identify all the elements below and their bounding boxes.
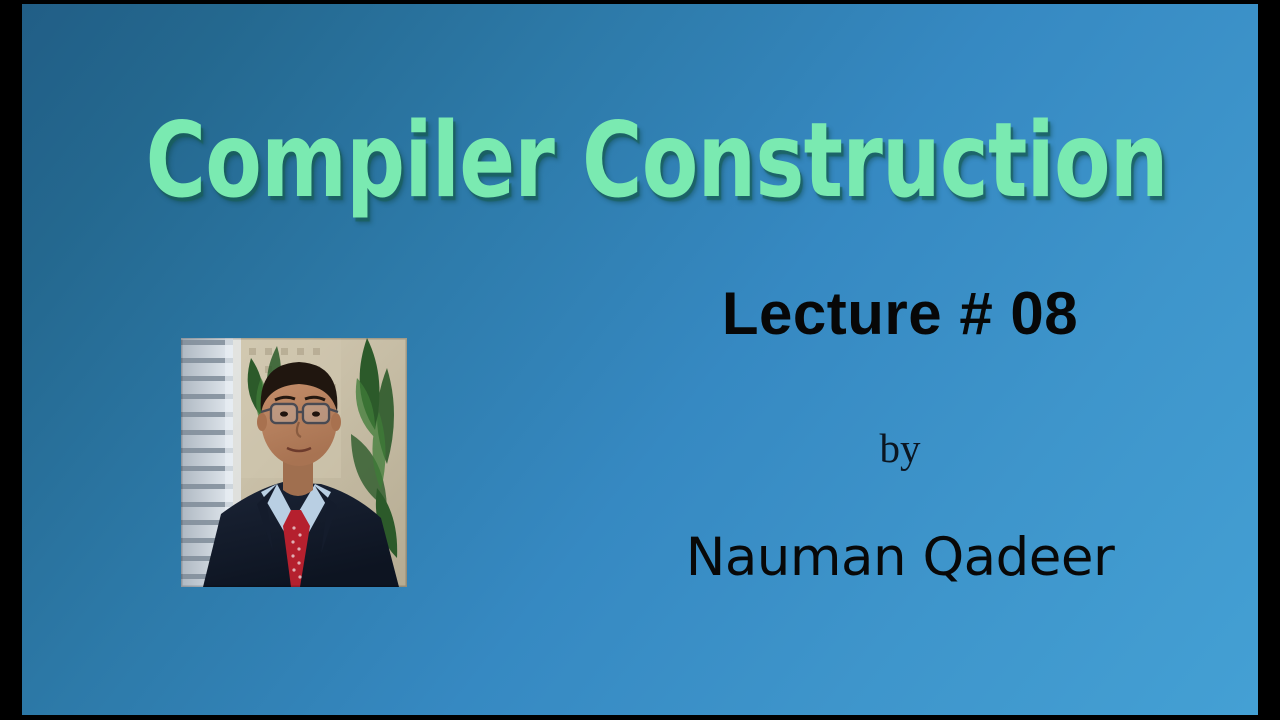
presenter-photo: [181, 338, 407, 587]
page-title: Compiler Construction: [146, 110, 1135, 213]
byline-label: by: [542, 428, 1258, 469]
presentation-slide: Compiler Construction: [22, 4, 1258, 715]
lecture-number-heading: Lecture # 08: [542, 284, 1258, 344]
pillarbox-bar-left: [0, 0, 22, 720]
author-name: Nauman Qadeer: [542, 531, 1258, 584]
video-frame: Compiler Construction: [0, 0, 1280, 720]
letterbox-bar-top: [0, 0, 1280, 4]
letterbox-bar-bottom: [0, 715, 1280, 720]
presenter-portrait-image: [181, 338, 407, 587]
pillarbox-bar-right: [1258, 0, 1280, 720]
